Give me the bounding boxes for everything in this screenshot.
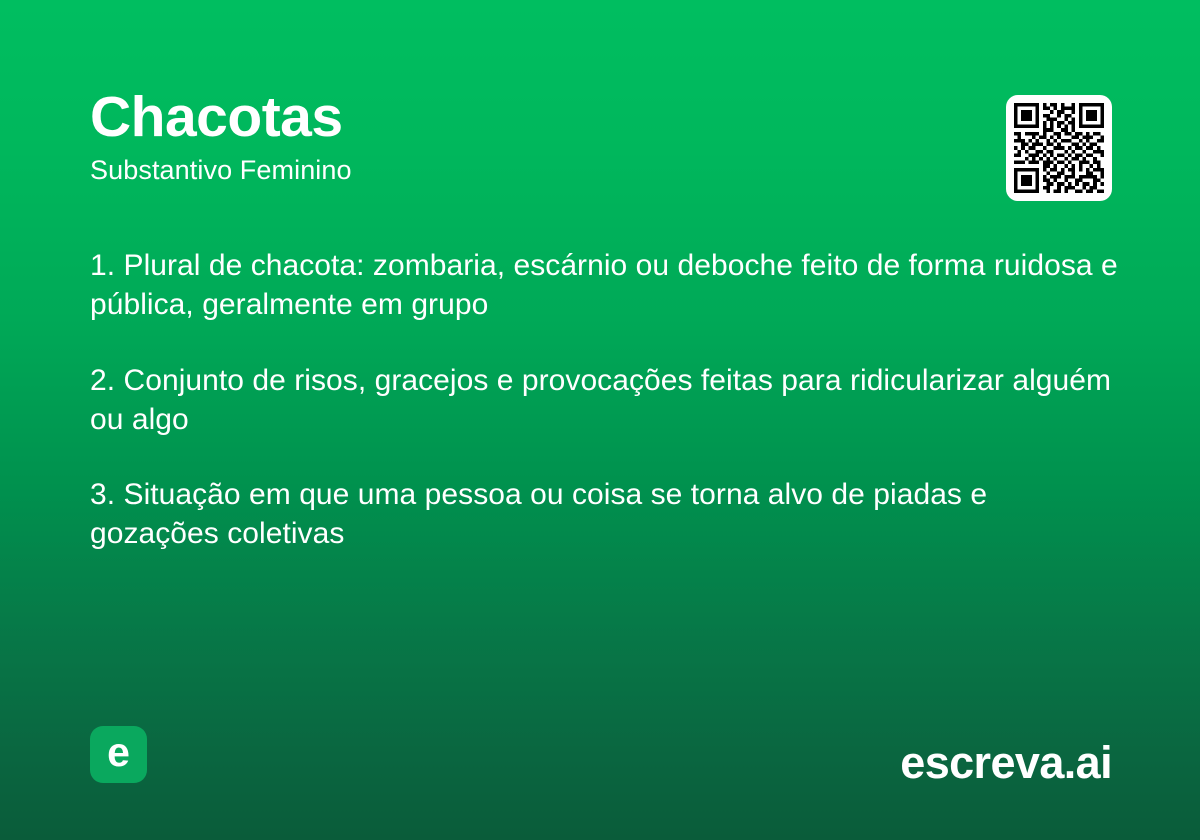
qr-code[interactable] (1006, 95, 1112, 201)
word-class-subtitle: Substantivo Feminino (90, 156, 1110, 186)
definition-item: 1. Plural de chacota: zombaria, escárnio… (90, 246, 1120, 325)
dictionary-card: Chacotas Substantivo Feminino 1. Plural … (0, 0, 1200, 840)
brand-wordmark: escreva.ai (900, 740, 1112, 785)
escreva-logo-icon[interactable]: e (90, 726, 147, 783)
logo-letter: e (107, 732, 130, 773)
definition-item: 3. Situação em que uma pessoa ou coisa s… (90, 475, 1120, 554)
qr-code-icon (1014, 103, 1104, 193)
page-title: Chacotas (90, 88, 1110, 146)
definition-item: 2. Conjunto de risos, gracejos e provoca… (90, 361, 1120, 440)
card-header: Chacotas Substantivo Feminino (90, 88, 1110, 186)
definition-list: 1. Plural de chacota: zombaria, escárnio… (90, 246, 1120, 554)
